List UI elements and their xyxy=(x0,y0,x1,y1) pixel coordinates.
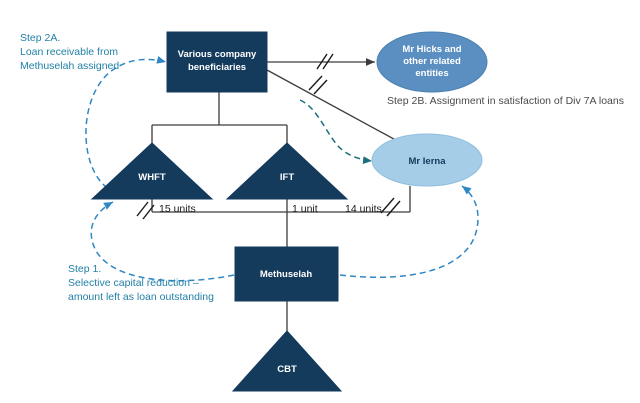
step-2b-line1: Step 2B. Assignment in satisfaction of D… xyxy=(387,95,624,107)
dashed-arrow-beneficiaries-to-ierna xyxy=(300,100,372,161)
ift-label: IFT xyxy=(280,172,294,183)
mr-hicks-label-line2: other related xyxy=(403,56,461,67)
step-2a-line3: Methuselah assigned xyxy=(20,60,119,72)
diagram-svg: Various company beneficiaries Mr Hicks a… xyxy=(0,0,640,403)
whft-label: WHFT xyxy=(138,172,166,183)
step-1-line1: Step 1. xyxy=(68,263,101,275)
methuselah-label: Methuselah xyxy=(260,269,312,280)
cbt-shape[interactable] xyxy=(233,331,341,391)
annotation-step-2b: Step 2B. Assignment in satisfaction of D… xyxy=(387,95,624,107)
label-14-units: 14 units xyxy=(345,203,382,215)
node-methuselah[interactable]: Methuselah xyxy=(235,247,338,301)
hash-ticks-14-units xyxy=(381,198,400,216)
step-2a-line1: Step 2A. xyxy=(20,32,60,44)
node-whft[interactable]: WHFT xyxy=(92,143,212,199)
dashed-arrow-methuselah-to-ierna xyxy=(340,186,478,277)
node-mr-hicks-and-other-related-entities[interactable]: Mr Hicks and other related entities xyxy=(377,32,487,92)
annotation-step-2a: Step 2A. Loan receivable from Methuselah… xyxy=(20,32,119,72)
step-1-line2: Selective capital reduction – xyxy=(68,277,199,289)
ift-shape[interactable] xyxy=(227,143,347,199)
mr-ierna-label: Mr Ierna xyxy=(409,156,447,167)
whft-shape[interactable] xyxy=(92,143,212,199)
node-ift[interactable]: IFT xyxy=(227,143,347,199)
various-company-beneficiaries-label-line1: Various company xyxy=(178,49,257,60)
hash-ticks-ierna-arrow xyxy=(309,76,327,94)
step-1-line3: amount left as loan outstanding xyxy=(68,291,214,303)
label-1-unit: 1 unit xyxy=(292,203,318,215)
mr-hicks-label-line1: Mr Hicks and xyxy=(402,44,461,55)
annotation-step-1: Step 1. Selective capital reduction – am… xyxy=(68,263,214,303)
node-cbt[interactable]: CBT xyxy=(233,331,341,391)
node-mr-ierna[interactable]: Mr Ierna xyxy=(372,134,482,186)
mr-hicks-label-line3: entities xyxy=(415,68,448,79)
label-15-units: 15 units xyxy=(159,203,196,215)
various-company-beneficiaries-label-line2: beneficiaries xyxy=(188,62,246,73)
step-2a-line2: Loan receivable from xyxy=(20,46,118,58)
node-various-company-beneficiaries[interactable]: Various company beneficiaries xyxy=(167,32,267,92)
cbt-label: CBT xyxy=(277,364,297,375)
diagram-canvas: Various company beneficiaries Mr Hicks a… xyxy=(0,0,640,403)
